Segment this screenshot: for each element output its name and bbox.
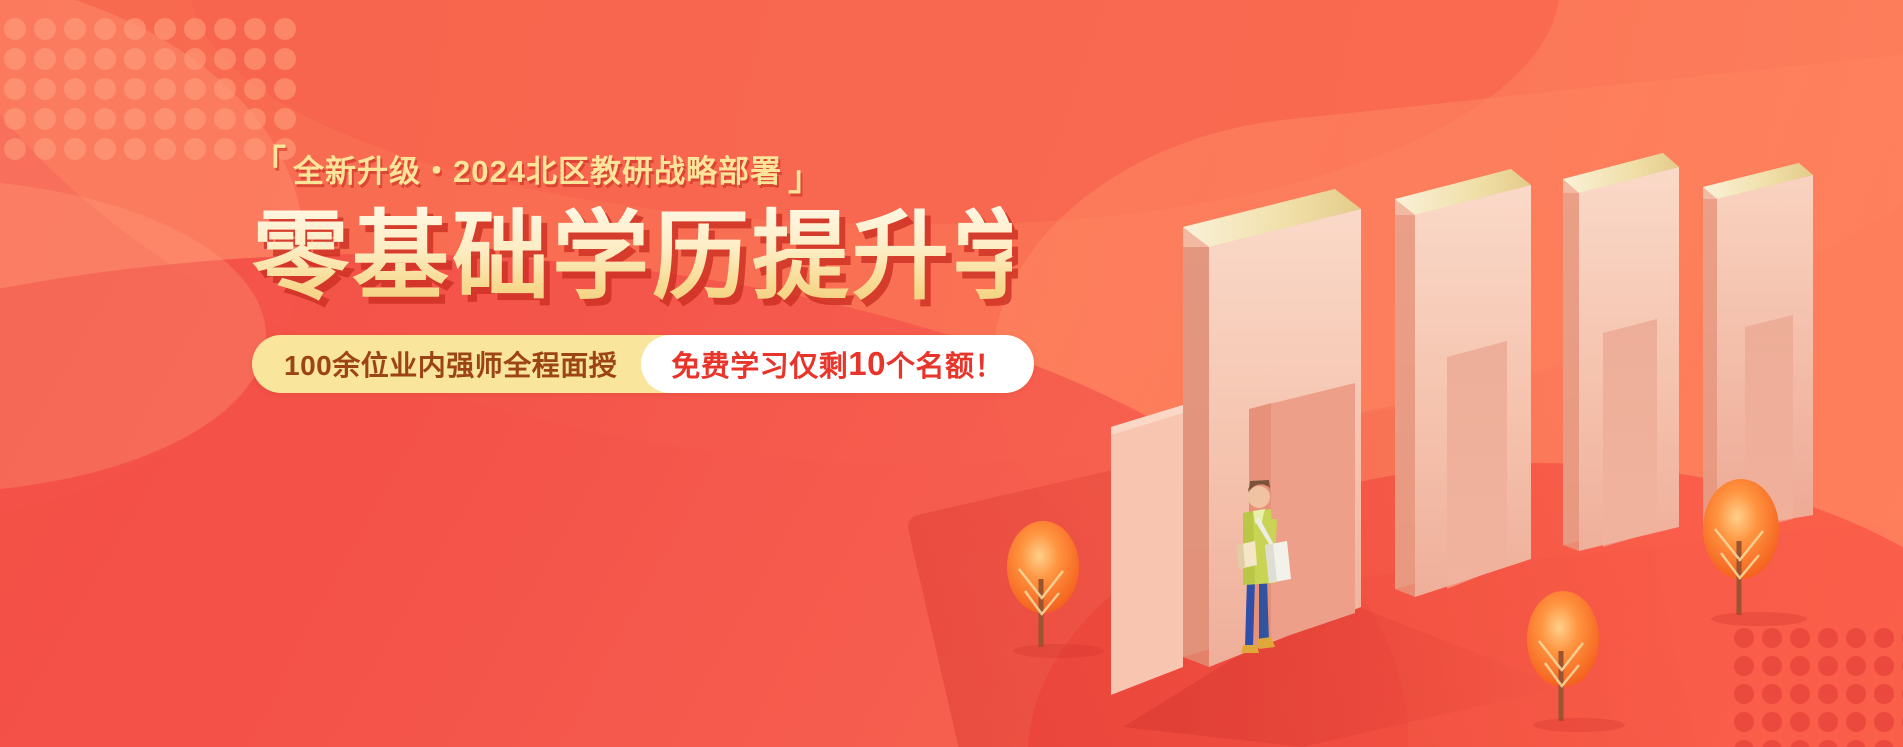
dot-grid-top-left — [4, 18, 296, 160]
grid-dot — [64, 18, 86, 40]
grid-dot — [94, 138, 116, 160]
pill-right-prefix: 免费学习仅剩 — [671, 343, 848, 385]
tree-left — [1007, 521, 1105, 658]
close-bracket-icon: 」 — [788, 162, 823, 196]
promo-pill[interactable]: 100余位业内强师全程面授 免费学习仅剩10个名额！ — [252, 335, 1034, 393]
grid-dot — [154, 138, 176, 160]
subtitle-text: 全新升级・2024北区教研战略部署 — [293, 156, 782, 187]
pill-right-label: 免费学习仅剩10个名额！ — [641, 335, 1034, 393]
promo-banner: 「 全新升级・2024北区教研战略部署 」 零基础学历提升学霸班 100余位业内… — [0, 0, 1903, 747]
grid-dot — [124, 78, 146, 100]
grid-dot — [154, 48, 176, 70]
book-3 — [1563, 153, 1679, 551]
book-2 — [1395, 169, 1531, 597]
grid-dot — [124, 48, 146, 70]
grid-dot — [154, 18, 176, 40]
grid-dot — [184, 78, 206, 100]
banner-headline: 零基础学历提升学霸班 — [252, 206, 1012, 309]
grid-dot — [244, 48, 266, 70]
banner-copy: 「 全新升级・2024北区教研战略部署 」 零基础学历提升学霸班 100余位业内… — [252, 150, 1012, 393]
grid-dot — [64, 138, 86, 160]
banner-subtitle: 「 全新升级・2024北区教研战略部署 」 — [252, 150, 1012, 192]
grid-dot — [64, 108, 86, 130]
book-4 — [1703, 163, 1813, 531]
tree-mid — [1527, 591, 1625, 732]
grid-dot — [4, 48, 26, 70]
grid-dot — [274, 108, 296, 130]
grid-dot — [214, 108, 236, 130]
pill-seat-count: 10 — [848, 345, 886, 383]
grid-dot — [154, 78, 176, 100]
grid-dot — [4, 108, 26, 130]
grid-dot — [94, 18, 116, 40]
grid-dot — [184, 18, 206, 40]
grid-dot — [4, 78, 26, 100]
grid-dot — [214, 78, 236, 100]
grid-dot — [184, 138, 206, 160]
grid-dot — [214, 18, 236, 40]
grid-dot — [274, 48, 296, 70]
grid-dot — [274, 78, 296, 100]
pill-right-suffix: 个名额！ — [886, 343, 1004, 385]
grid-dot — [34, 48, 56, 70]
grid-dot — [34, 108, 56, 130]
grid-dot — [244, 108, 266, 130]
grid-dot — [34, 78, 56, 100]
grid-dot — [124, 18, 146, 40]
grid-dot — [94, 78, 116, 100]
grid-dot — [184, 48, 206, 70]
grid-dot — [34, 138, 56, 160]
grid-dot — [214, 138, 236, 160]
grid-dot — [124, 138, 146, 160]
pill-left-label: 100余位业内强师全程面授 — [252, 335, 641, 393]
grid-dot — [244, 18, 266, 40]
grid-dot — [34, 18, 56, 40]
grid-dot — [4, 18, 26, 40]
grid-dot — [64, 48, 86, 70]
grid-dot — [244, 78, 266, 100]
grid-dot — [94, 108, 116, 130]
grid-dot — [94, 48, 116, 70]
grid-dot — [4, 138, 26, 160]
grid-dot — [274, 18, 296, 40]
open-bracket-icon: 「 — [252, 146, 287, 180]
grid-dot — [184, 108, 206, 130]
grid-dot — [154, 108, 176, 130]
grid-dot — [214, 48, 236, 70]
grid-dot — [124, 108, 146, 130]
grid-dot — [64, 78, 86, 100]
